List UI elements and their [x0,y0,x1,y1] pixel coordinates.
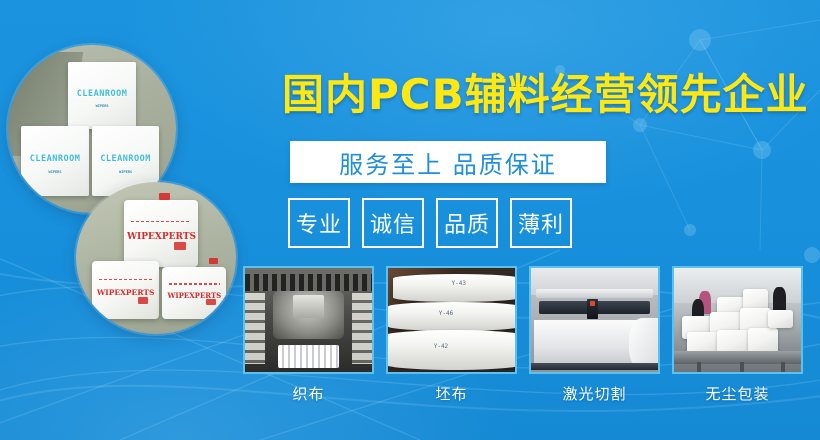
keyword-tag-low-margin[interactable]: 薄利 [510,198,572,248]
thumbnail-caption: 激光切割 [529,383,660,404]
wipexperts-brand-text: WIPEXPERTS [127,232,195,242]
keyword-tag-label: 品质 [444,207,490,239]
thumbnail-caption: 无尘包装 [672,383,803,404]
cleanroom-brand-text: CLEANROOM [73,89,132,99]
fabric-rolls-photo[interactable]: Y-43 Y-46 Y-42 [386,266,517,374]
cleanroom-brand-text: CLEANROOM [25,154,84,164]
thumbnail-caption: 坯布 [386,383,517,404]
keyword-tag-professional[interactable]: 专业 [288,198,350,248]
keyword-tag-label: 诚信 [370,207,416,239]
keyword-tag-label: 专业 [296,207,342,239]
cleanroom-sub-text: WIPERS [25,170,84,174]
wipexperts-pack: WIPEXPERTS [92,261,159,319]
cleanroom-pack: CLEANROOM WIPERS [68,62,135,129]
process-thumbnail-strip: 织布 Y-43 Y-46 Y-42 坯布 [243,266,803,404]
keyword-tag-label: 薄利 [518,207,564,239]
process-thumbnail-item[interactable]: 无尘包装 [672,266,803,404]
laser-cutting-machine-photo[interactable] [529,266,660,374]
wipexperts-packs-photo: WIPEXPERTS WIPEXPERTS WIPEXPERTS [76,182,236,334]
process-thumbnail-item[interactable]: 织布 [243,266,374,404]
cleanroom-brand-text: CLEANROOM [96,154,155,164]
process-thumbnail-item[interactable]: Y-43 Y-46 Y-42 坯布 [386,266,517,404]
cleanroom-packing-photo[interactable] [672,266,803,374]
keyword-tag-quality[interactable]: 品质 [436,198,498,248]
cleanroom-sub-text: WIPERS [73,104,132,108]
keyword-tag-integrity[interactable]: 诚信 [362,198,424,248]
cleanroom-sub-text: WIPERS [96,170,155,174]
page-title: 国内PCB辅料经营领先企业 [282,74,809,116]
slogan-bar: 服务至上 品质保证 [290,141,606,183]
thumbnail-caption: 织布 [243,383,374,404]
wipexperts-brand-text: WIPEXPERTS [95,288,157,297]
keyword-tag-group: 专业 诚信 品质 薄利 [288,198,572,248]
wipexperts-pack: WIPEXPERTS [124,200,198,267]
promo-banner: CLEANROOM WIPERS CLEANROOM WIPERS CLEANR… [0,0,820,440]
process-thumbnail-item[interactable]: 激光切割 [529,266,660,404]
knitting-machine-photo[interactable] [243,266,374,374]
wipexperts-pack: WIPEXPERTS [162,267,226,319]
slogan-text: 服务至上 品质保证 [339,145,557,180]
